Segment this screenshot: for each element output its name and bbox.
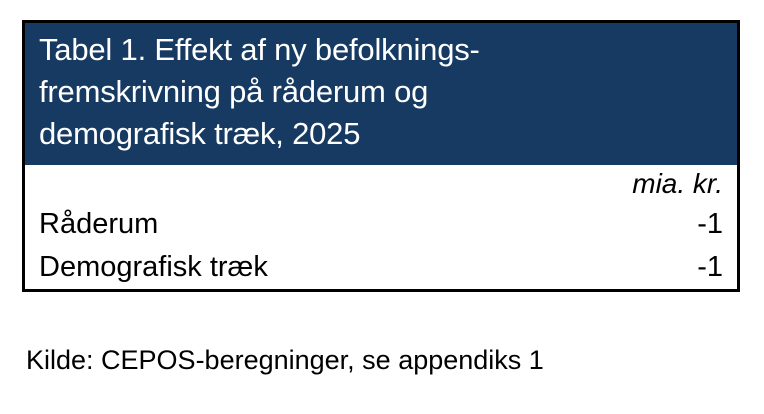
source-note: Kilde: CEPOS-beregninger, se appendiks 1 bbox=[26, 345, 544, 376]
unit-label: mia. kr. bbox=[632, 170, 723, 198]
table-frame: Tabel 1. Effekt af ny befolknings- frems… bbox=[22, 20, 740, 292]
table-figure: Tabel 1. Effekt af ny befolknings- frems… bbox=[0, 0, 764, 414]
table-row: Råderum -1 bbox=[25, 203, 737, 246]
row-label-raderum: Råderum bbox=[39, 210, 158, 239]
row-label-demografisk-traek: Demografisk træk bbox=[39, 253, 268, 282]
row-value-raderum: -1 bbox=[697, 210, 723, 239]
table-unit-row: mia. kr. bbox=[25, 165, 737, 203]
table-body: mia. kr. Råderum -1 Demografisk træk -1 bbox=[25, 165, 737, 289]
table-row: Demografisk træk -1 bbox=[25, 246, 737, 289]
table-title: Tabel 1. Effekt af ny befolknings- frems… bbox=[39, 29, 723, 155]
row-value-demografisk-traek: -1 bbox=[697, 253, 723, 282]
table-header-band: Tabel 1. Effekt af ny befolknings- frems… bbox=[25, 23, 737, 165]
